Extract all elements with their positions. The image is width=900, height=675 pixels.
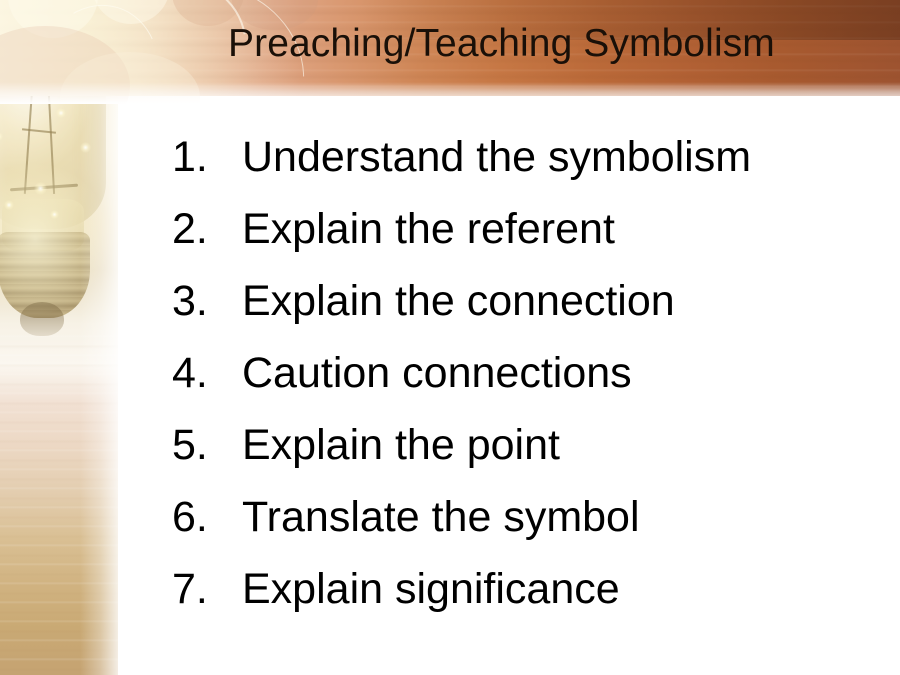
list-item: 7. Explain significance [172,565,872,637]
numbered-list: 1. Understand the symbolism 2. Explain t… [172,133,872,637]
list-item-label: Explain the referent [242,205,872,254]
slide-title: Preaching/Teaching Symbolism [228,18,888,70]
list-item-label: Translate the symbol [242,493,872,542]
sparkle-icon [4,200,14,210]
presentation-slide: Preaching/Teaching Symbolism 1. Understa… [0,0,900,675]
list-item: 3. Explain the connection [172,277,872,349]
list-item-label: Understand the symbolism [242,133,872,182]
list-item: 2. Explain the referent [172,205,872,277]
list-item-number: 2. [172,205,242,254]
sparkle-icon [50,210,59,219]
list-item-number: 5. [172,421,242,470]
sparkle-icon [56,108,66,118]
list-item-number: 6. [172,493,242,542]
list-item: 1. Understand the symbolism [172,133,872,205]
list-item-number: 4. [172,349,242,398]
list-item-label: Caution connections [242,349,872,398]
banner-bottom-fade [0,82,900,104]
sparkle-icon [34,182,47,195]
list-item-number: 3. [172,277,242,326]
list-item-number: 1. [172,133,242,182]
list-item-label: Explain the connection [242,277,872,326]
list-item-label: Explain the point [242,421,872,470]
list-item: 5. Explain the point [172,421,872,493]
list-item: 4. Caution connections [172,349,872,421]
list-item: 6. Translate the symbol [172,493,872,565]
list-item-label: Explain significance [242,565,872,614]
list-item-number: 7. [172,565,242,614]
header-banner: Preaching/Teaching Symbolism [0,0,900,104]
